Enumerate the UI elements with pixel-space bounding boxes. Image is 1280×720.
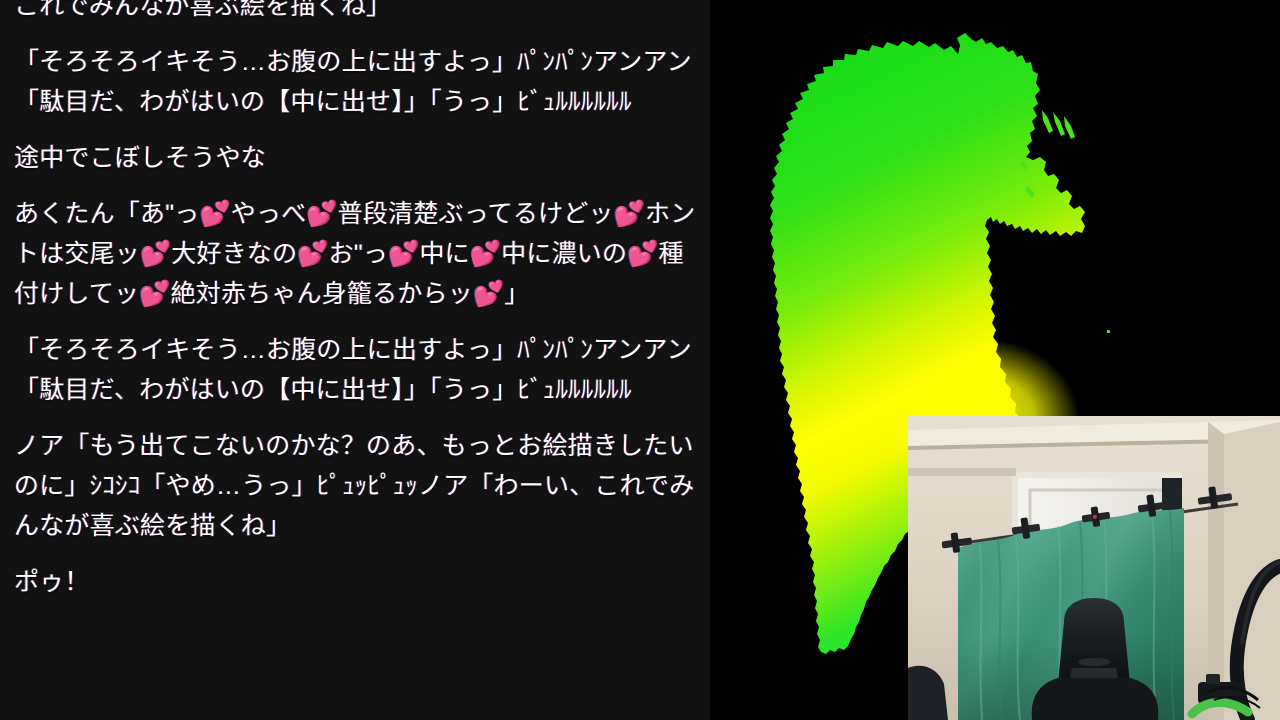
comment-paragraph: これでみんなが喜ぶ絵を描くね」 [14, 0, 696, 26]
comment-paragraph: ポゥ！ [14, 562, 696, 602]
comment-paragraph: 途中でこぼしそうやな [14, 138, 696, 178]
comment-paragraph: 「そろそろイキそう…お腹の上に出すよっ」ﾊﾟﾝﾊﾟﾝアンアン「駄目だ、わがはいの… [14, 330, 696, 410]
comment-paragraph: あくたん「あ"っ💕やっべ💕普段清楚ぶってるけどッ💕ホントは交尾ッ💕大好きなの💕お… [14, 194, 696, 314]
comment-text-panel[interactable]: これでみんなが喜ぶ絵を描くね」 「そろそろイキそう…お腹の上に出すよっ」ﾊﾟﾝﾊ… [0, 0, 710, 720]
stream-stage: これでみんなが喜ぶ絵を描くね」 「そろそろイキそう…お腹の上に出すよっ」ﾊﾟﾝﾊ… [0, 0, 1280, 720]
webcam-left-door-top [908, 468, 1016, 476]
webcam-overlay[interactable] [908, 416, 1280, 720]
webcam-scene [908, 416, 1280, 720]
comment-scroll-content: これでみんなが喜ぶ絵を描くね」 「そろそろイキそう…お腹の上に出すよっ」ﾊﾟﾝﾊ… [0, 0, 710, 602]
comment-paragraph: ノア「もう出てこないのかな？のあ、もっとお絵描きしたいのに」ｼｺｼｺ「やめ…うっ… [14, 426, 696, 546]
comment-paragraph: 「そろそろイキそう…お腹の上に出すよっ」ﾊﾟﾝﾊﾟﾝアンアン「駄目だ、わがはいの… [14, 42, 696, 122]
